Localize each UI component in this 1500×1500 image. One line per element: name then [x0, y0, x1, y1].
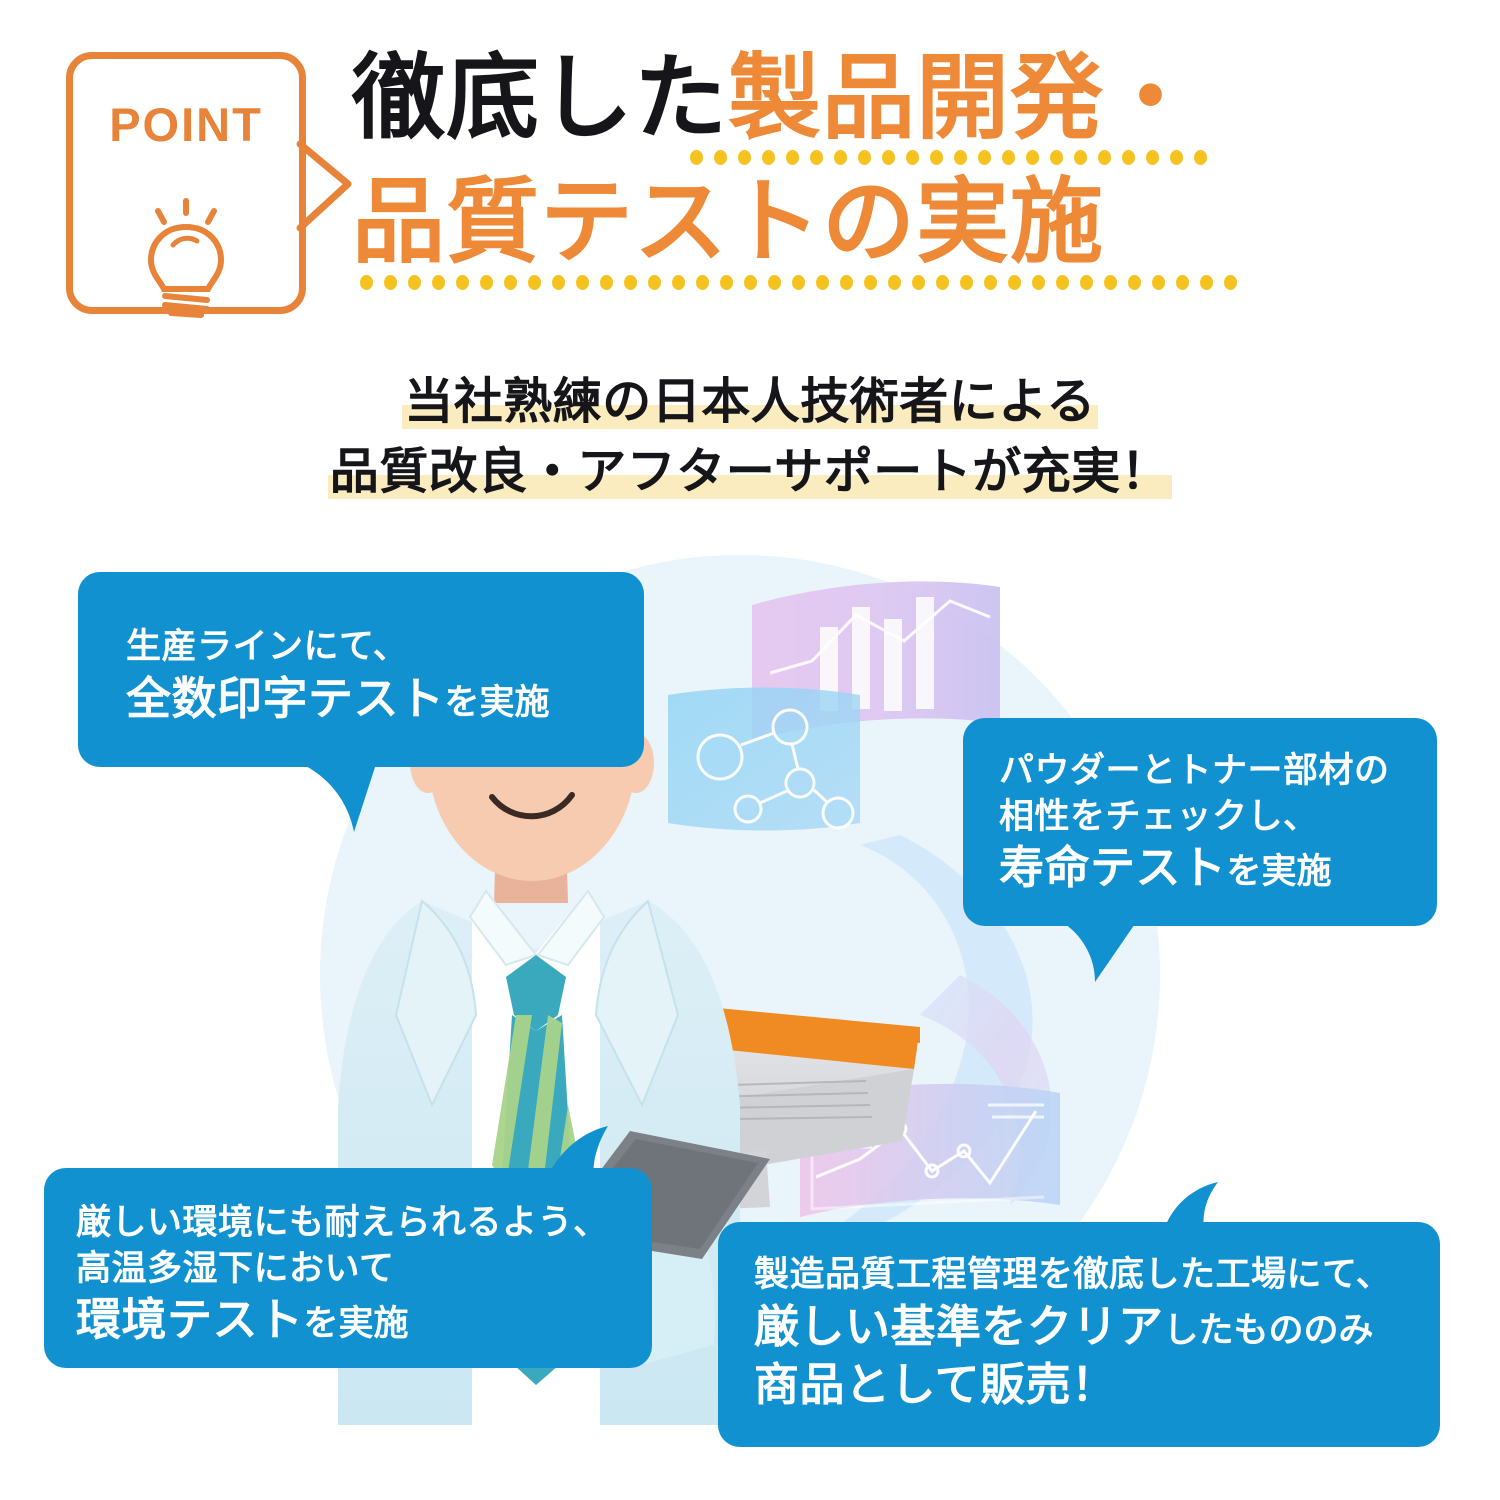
lightbulb-icon [127, 197, 245, 324]
headline-line1-orange: 製品開発・ [728, 46, 1198, 150]
bubble4-line-2: 厳しい基準をクリアしたもののみ [754, 1298, 1440, 1357]
bubble2-line-2: 相性をチェックし、 [999, 794, 1437, 840]
bubble3-line-3: 環境テストを実施 [76, 1291, 652, 1350]
badge-pointer-icon [296, 138, 358, 239]
bubble-life-test: パウダーとトナー部材の 相性をチェックし、 寿命テストを実施 [963, 718, 1437, 926]
point-badge: POINT [66, 52, 306, 314]
infographic-page: POINT 徹底した製品開発・ [0, 0, 1500, 1500]
bubble1-line-1: 生産ラインにて、 [126, 624, 644, 670]
bubble3-tail [536, 1126, 628, 1187]
point-label: POINT [73, 97, 299, 152]
molecule-panel [668, 688, 860, 831]
subtitle-line-1: 当社熟練の日本人技術者による [0, 368, 1500, 438]
bubble1-tail [300, 762, 380, 839]
headline-line-1: 徹底した製品開発・ [352, 48, 1432, 148]
bubble2-line-1: パウダーとトナー部材の [999, 748, 1437, 794]
subtitle: 当社熟練の日本人技術者による 品質改良・アフターサポートが充実！ [0, 368, 1500, 507]
bubble2-line-3: 寿命テストを実施 [999, 839, 1437, 898]
bubble3-line-2: 高温多湿下において [76, 1246, 652, 1292]
headline-dotted-underline-1 [690, 150, 1432, 166]
headline-dotted-underline-2 [360, 275, 1432, 291]
headline-line-2: 品質テストの実施 [352, 172, 1432, 272]
headline: 徹底した製品開発・ 品質テストの実施 [352, 48, 1432, 291]
bubble4-line-1: 製造品質工程管理を徹底した工場にて、 [754, 1252, 1440, 1298]
bubble-quality-control: 製造品質工程管理を徹底した工場にて、 厳しい基準をクリアしたもののみ 商品として… [718, 1222, 1440, 1447]
bubble2-tail [1055, 918, 1141, 989]
bubble4-tail [1160, 1182, 1238, 1237]
bubble-print-test: 生産ラインにて、 全数印字テストを実施 [78, 572, 644, 767]
bubble-environment-test: 厳しい環境にも耐えられるよう、 高温多湿下において 環境テストを実施 [44, 1168, 652, 1368]
bubble1-line-2: 全数印字テストを実施 [126, 670, 644, 729]
headline-line1-black: 徹底した [352, 46, 728, 150]
bubble3-line-1: 厳しい環境にも耐えられるよう、 [76, 1200, 652, 1246]
subtitle-line-2: 品質改良・アフターサポートが充実！ [0, 438, 1500, 508]
bubble4-line-3: 商品として販売！ [754, 1356, 1440, 1415]
headline-line2-orange: 品質テストの実施 [352, 170, 1104, 274]
